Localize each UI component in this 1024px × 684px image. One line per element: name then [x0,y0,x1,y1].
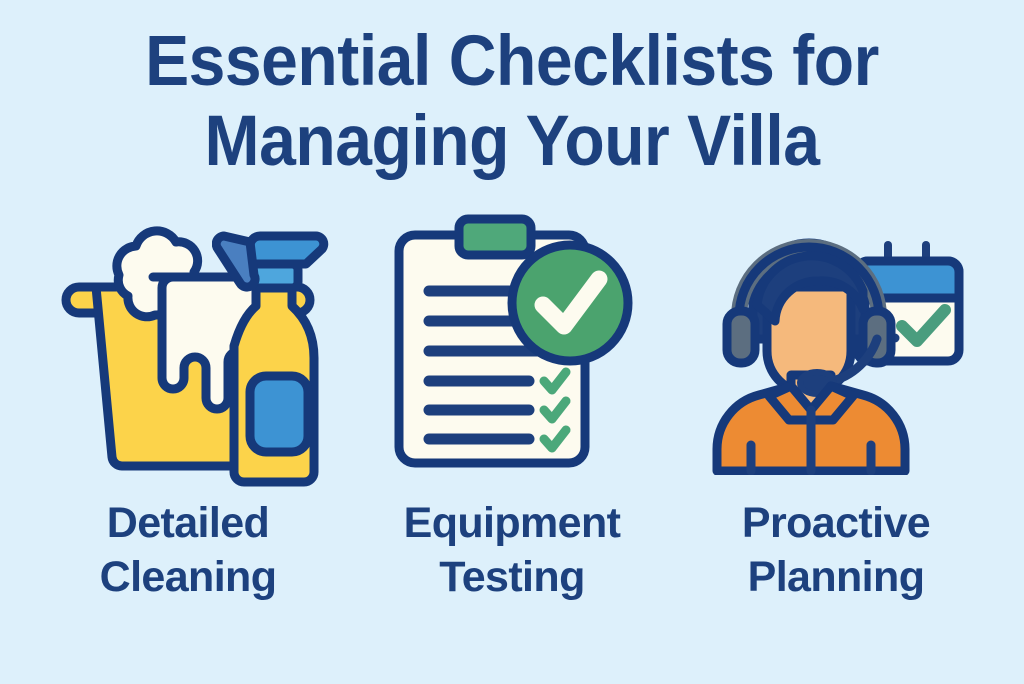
card-label-line-2: Cleaning [100,550,277,604]
card-equipment-testing: Equipment Testing [350,208,674,604]
infographic-poster: Essential Checklists for Managing Your V… [0,0,1024,684]
card-label-proactive-planning: Proactive Planning [742,496,930,604]
card-label-line-1: Detailed [107,499,269,547]
card-proactive-planning: Proactive Planning [674,208,998,604]
spray-bottle-icon [212,228,332,490]
card-row: Detailed Cleaning [0,208,1024,604]
clipboard-checklist-icon [362,208,662,480]
card-label-equipment-testing: Equipment Testing [404,496,621,604]
card-label-line-2: Planning [742,550,930,604]
support-agent-calendar-icon [686,208,986,480]
title-line-1: Essential Checklists for [73,22,951,102]
card-label-line-2: Testing [404,550,621,604]
card-label-line-1: Proactive [742,499,930,547]
card-label-line-1: Equipment [404,499,621,547]
card-label-detailed-cleaning: Detailed Cleaning [100,496,277,604]
title-line-2: Managing Your Villa [73,102,951,182]
page-title: Essential Checklists for Managing Your V… [0,22,1024,182]
